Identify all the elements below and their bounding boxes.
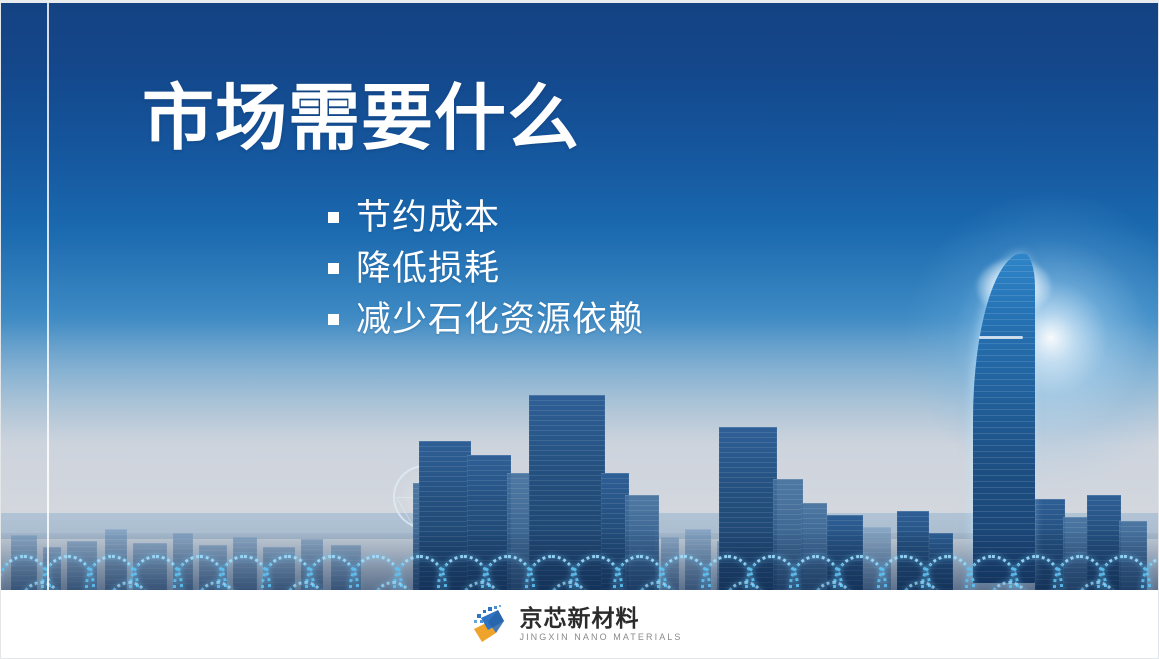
bullet-label: 节约成本	[356, 200, 500, 235]
slide-footer: 京芯新材料 JINGXIN NANO MATERIALS	[1, 590, 1158, 658]
list-item: 降低损耗	[328, 244, 644, 292]
list-item: 节约成本	[328, 193, 644, 241]
bullet-square-icon	[328, 314, 339, 325]
tower-light-band	[979, 336, 1023, 339]
logo-wordmark: 京芯新材料 JINGXIN NANO MATERIALS	[519, 606, 682, 641]
bullet-square-icon	[328, 212, 339, 223]
jingxin-pixel-rhombus-logo-icon	[468, 603, 510, 645]
company-name-cn: 京芯新材料	[519, 606, 682, 630]
company-name-en: JINGXIN NANO MATERIALS	[519, 633, 682, 642]
bullet-label: 减少石化资源依赖	[356, 302, 644, 337]
presentation-slide: 市场需要什么 节约成本 降低损耗 减少石化资源依赖	[0, 0, 1159, 659]
city-skyline	[1, 361, 1158, 591]
bullet-square-icon	[328, 263, 339, 274]
left-accent-line	[47, 3, 49, 591]
slide-title: 市场需要什么	[142, 81, 580, 157]
bullet-list: 节约成本 降低损耗 减少石化资源依赖	[328, 193, 644, 346]
company-logo: 京芯新材料 JINGXIN NANO MATERIALS	[468, 603, 682, 645]
bullet-label: 降低损耗	[356, 251, 500, 286]
list-item: 减少石化资源依赖	[328, 295, 644, 343]
foreground-shadow	[1, 533, 1158, 591]
